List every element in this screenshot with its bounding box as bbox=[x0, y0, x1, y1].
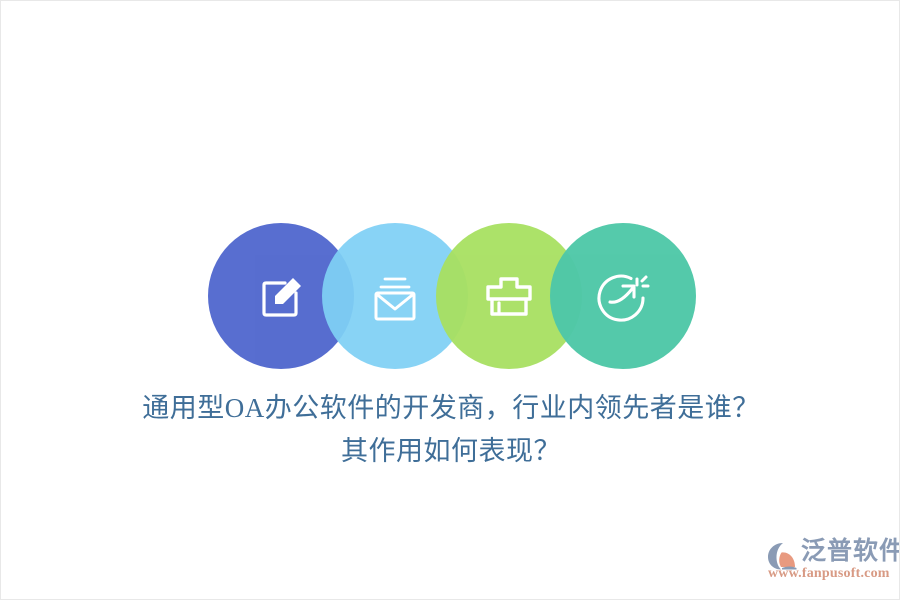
page-title-line-1: 通用型OA办公软件的开发商，行业内领先者是谁？ bbox=[1, 387, 900, 430]
growth-arrow-icon bbox=[550, 223, 696, 369]
page-title: 通用型OA办公软件的开发商，行业内领先者是谁？ 其作用如何表现？ bbox=[1, 387, 900, 473]
brand-url: www.fanpusoft.com bbox=[768, 565, 890, 582]
feature-circle-growth bbox=[550, 223, 696, 369]
brand-logo[interactable]: 泛普软件 www.fanpusoft.com bbox=[767, 537, 891, 583]
brand-wordmark: 泛普软件 bbox=[801, 537, 900, 567]
page-title-line-2: 其作用如何表现？ bbox=[1, 430, 900, 473]
page-canvas: 通用型OA办公软件的开发商，行业内领先者是谁？ 其作用如何表现？ 泛普软件 ww… bbox=[0, 0, 900, 600]
feature-circle-row bbox=[208, 223, 696, 369]
